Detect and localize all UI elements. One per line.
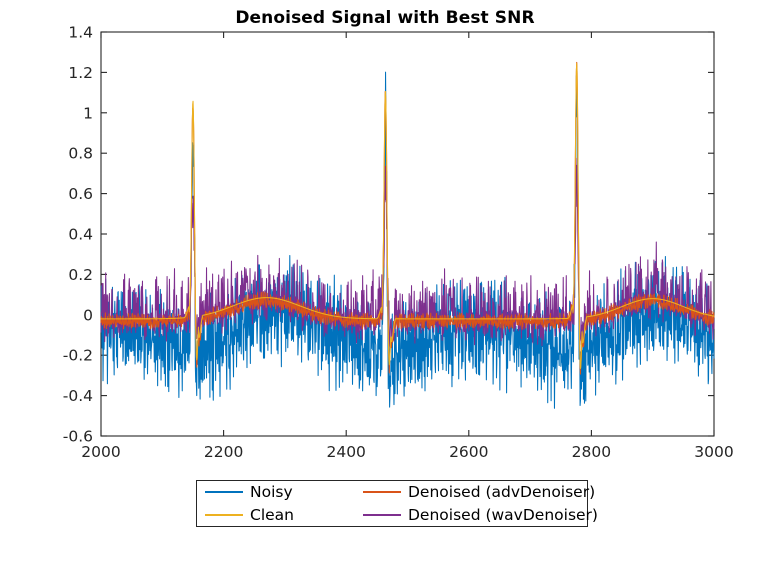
legend-entry-clean[interactable]: Clean [197,504,355,527]
y-tick-label: 1.4 [68,24,93,42]
data-series-group [101,62,714,408]
legend: Noisy Denoised (advDenoiser) Clean Denoi… [196,480,588,527]
y-tick-label: 0.4 [68,226,93,244]
axes-group: 200022002400260028003000-0.6-0.4-0.200.2… [63,24,734,462]
legend-entry-advdenoiser[interactable]: Denoised (advDenoiser) [355,481,589,504]
legend-label-wavdenoiser: Denoised (wavDenoiser) [408,506,598,524]
x-tick-label: 2600 [449,443,488,461]
series-noisy [101,72,714,408]
legend-label-clean: Clean [250,506,294,524]
x-tick-label: 2400 [326,443,365,461]
x-tick-label: 3000 [694,443,733,461]
y-tick-label: 0.2 [68,266,93,284]
y-tick-label: 0.6 [68,185,93,203]
y-tick-label: -0.4 [63,387,93,405]
y-tick-label: -0.2 [63,347,93,365]
y-tick-label: -0.6 [63,428,93,446]
x-tick-label: 2200 [204,443,243,461]
y-tick-label: 0.8 [68,145,93,163]
figure-canvas: Denoised Signal with Best SNR 2000220024… [0,0,770,577]
y-tick-label: 1.2 [68,64,93,82]
legend-swatch-noisy [205,491,243,493]
legend-swatch-wavdenoiser [363,514,401,516]
legend-swatch-advdenoiser [363,491,401,493]
legend-entry-noisy[interactable]: Noisy [197,481,355,504]
y-tick-label: 1 [83,104,93,122]
y-tick-label: 0 [83,306,93,324]
legend-entry-wavdenoiser[interactable]: Denoised (wavDenoiser) [355,504,589,527]
legend-swatch-clean [205,514,243,516]
legend-label-noisy: Noisy [250,483,293,501]
legend-label-advdenoiser: Denoised (advDenoiser) [408,483,595,501]
x-tick-label: 2000 [81,443,120,461]
x-tick-label: 2800 [572,443,611,461]
